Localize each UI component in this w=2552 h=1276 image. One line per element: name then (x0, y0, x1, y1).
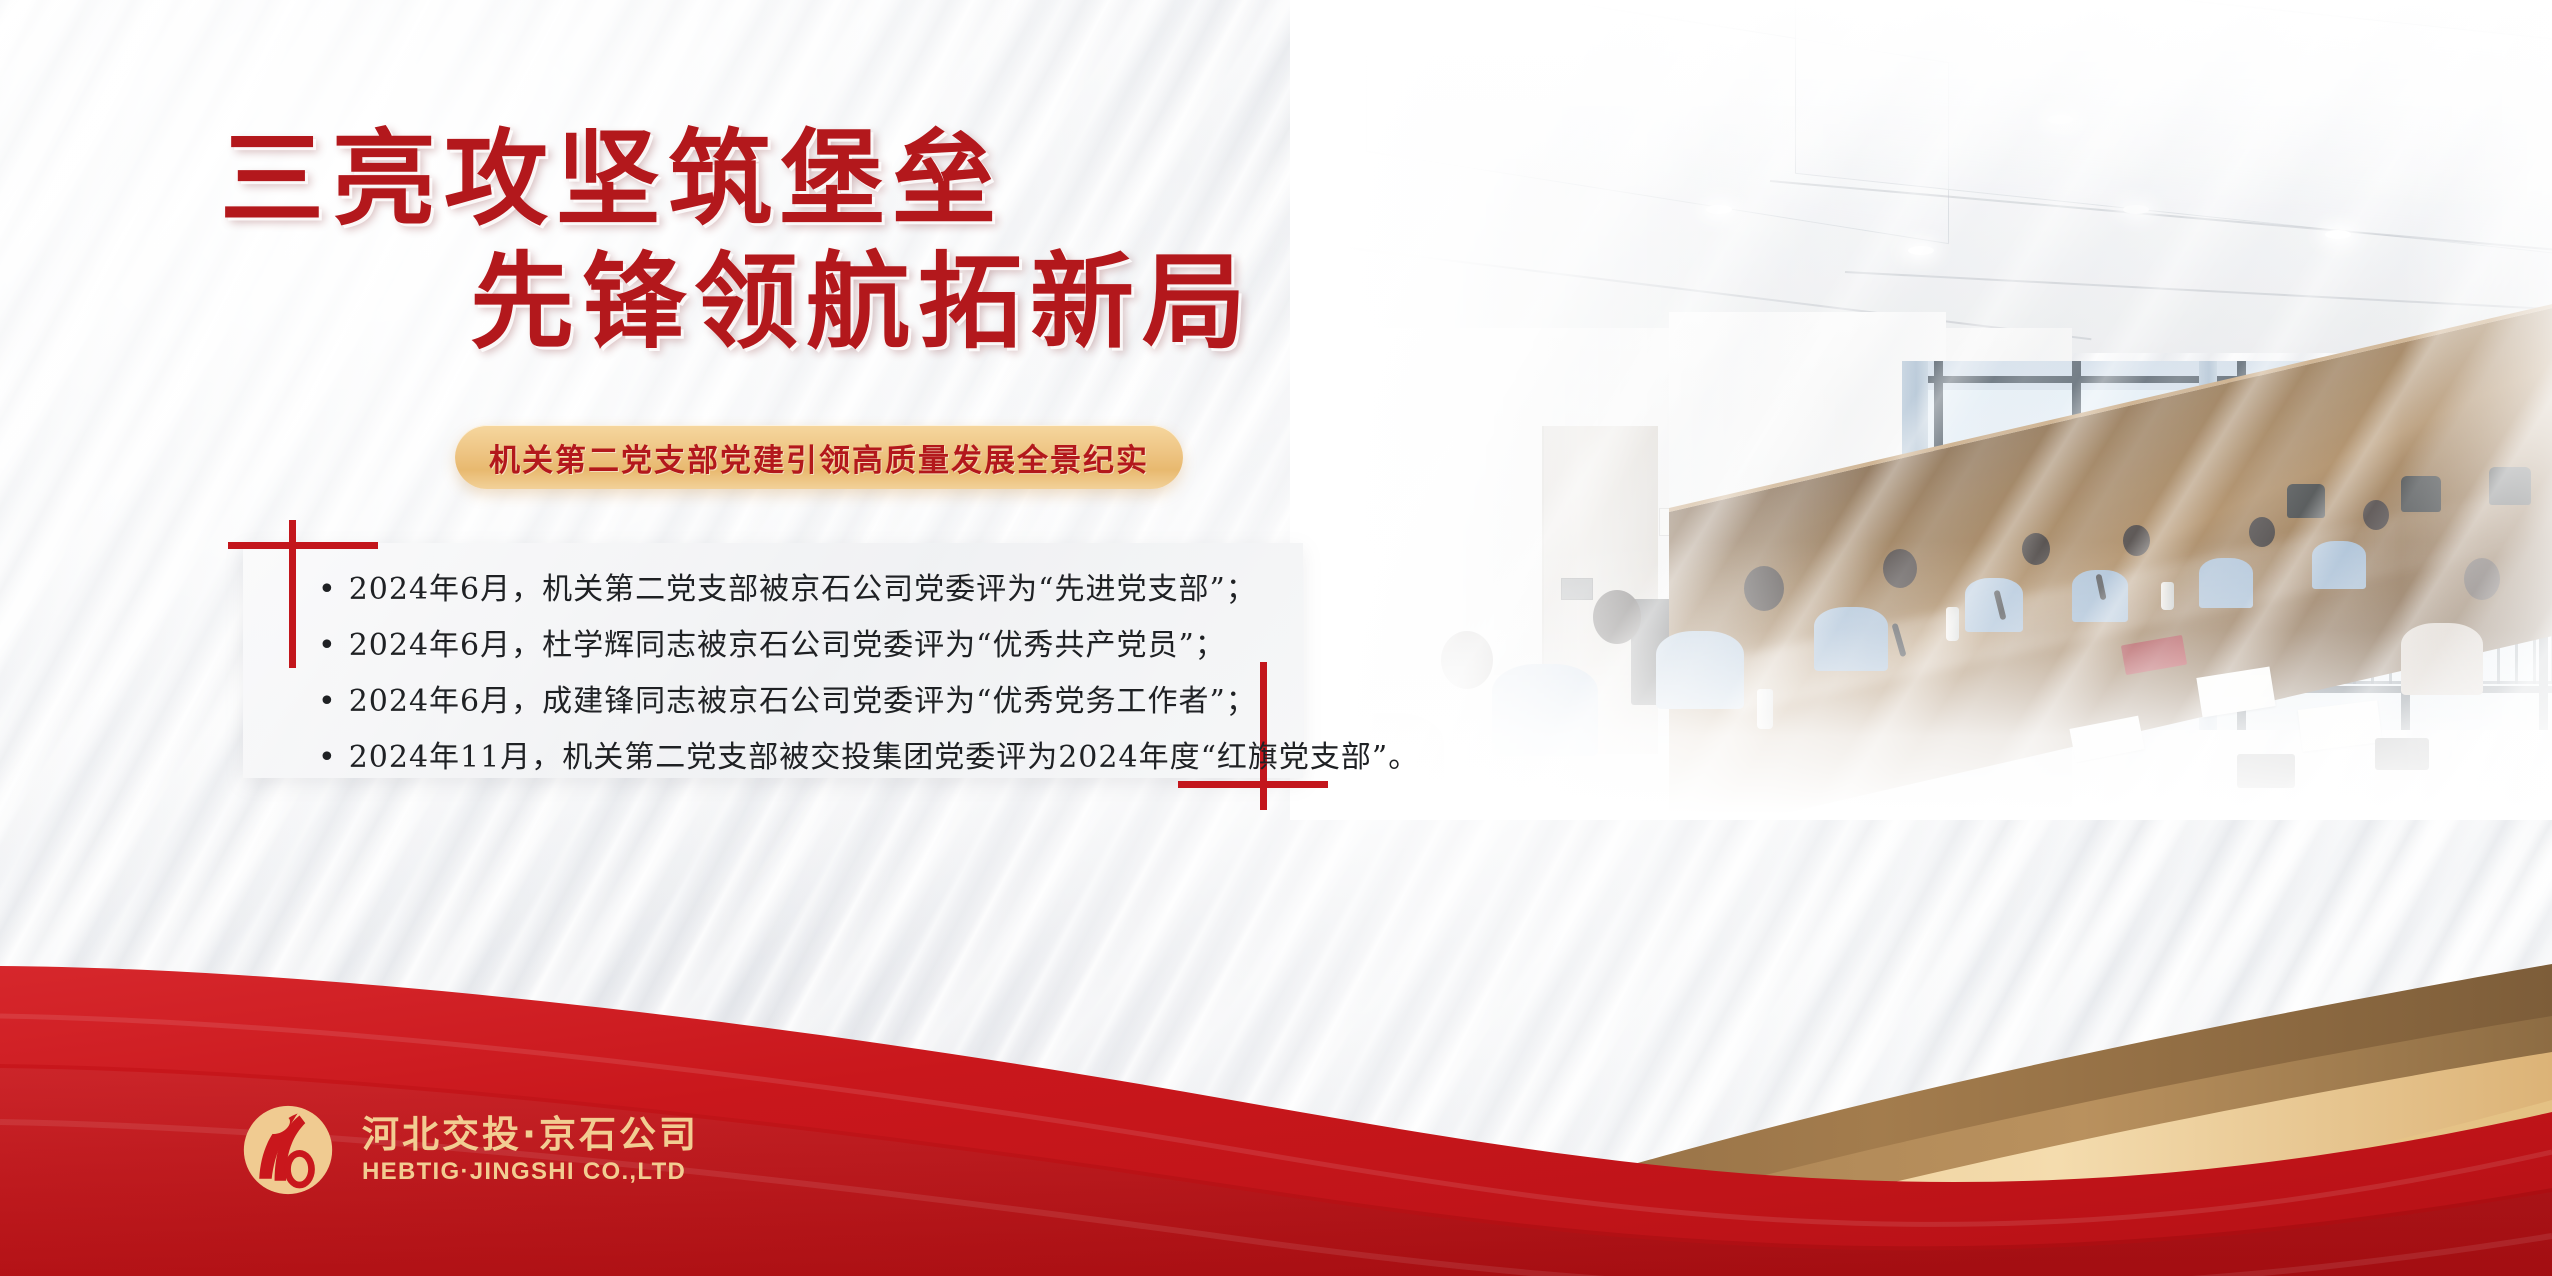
bullet-dot-icon: • (318, 687, 337, 717)
headline-block: 三亮攻坚筑堡垒 先锋领航拓新局 (0, 118, 1320, 363)
bottom-wave-decoration: 河北交投·京石公司 HEBTIG·JINGSHI CO.,LTD (0, 716, 2552, 1276)
photo-fade-right (2401, 0, 2552, 820)
list-item-text: 2024年6月，杜学辉同志被京石公司党委评为“优秀共产党员”； (349, 631, 1226, 661)
bullet-dot-icon: • (318, 575, 337, 605)
meeting-room-photo (1290, 0, 2552, 820)
subtitle-badge-text: 机关第二党支部党建引领高质量发展全景纪实 (489, 435, 1149, 480)
poster-canvas: 三亮攻坚筑堡垒 先锋领航拓新局 机关第二党支部党建引领高质量发展全景纪实 • 2… (0, 0, 2552, 1276)
corner-bracket-top-left-vertical (289, 520, 296, 668)
headline-line-1: 三亮攻坚筑堡垒 (0, 118, 1320, 241)
photo-fade-top (1290, 0, 2552, 213)
logo-emblem-icon (240, 1102, 336, 1198)
corner-bracket-top-left-horizontal (228, 542, 378, 549)
list-item-text: 2024年6月，机关第二党支部被京石公司党委评为“先进党支部”； (349, 575, 1257, 605)
list-item: • 2024年6月，机关第二党支部被京石公司党委评为“先进党支部”； (318, 575, 1273, 605)
bullet-dot-icon: • (318, 631, 337, 661)
subtitle-badge: 机关第二党支部党建引领高质量发展全景纪实 (455, 425, 1183, 489)
headline-line-2: 先锋领航拓新局 (0, 241, 1320, 364)
logo-mark-svg (240, 1102, 336, 1198)
logo-name-en: HEBTIG·JINGSHI CO.,LTD (362, 1159, 699, 1184)
company-logo: 河北交投·京石公司 HEBTIG·JINGSHI CO.,LTD (240, 1102, 699, 1198)
list-item: • 2024年6月，杜学辉同志被京石公司党委评为“优秀共产党员”； (318, 631, 1273, 661)
list-item-text: 2024年6月，成建锋同志被京石公司党委评为“优秀党务工作者”； (349, 687, 1257, 717)
logo-name-cn: 河北交投·京石公司 (362, 1116, 699, 1155)
list-item: • 2024年6月，成建锋同志被京石公司党委评为“优秀党务工作者”； (318, 687, 1273, 717)
logo-wordmark: 河北交投·京石公司 HEBTIG·JINGSHI CO.,LTD (362, 1116, 699, 1184)
